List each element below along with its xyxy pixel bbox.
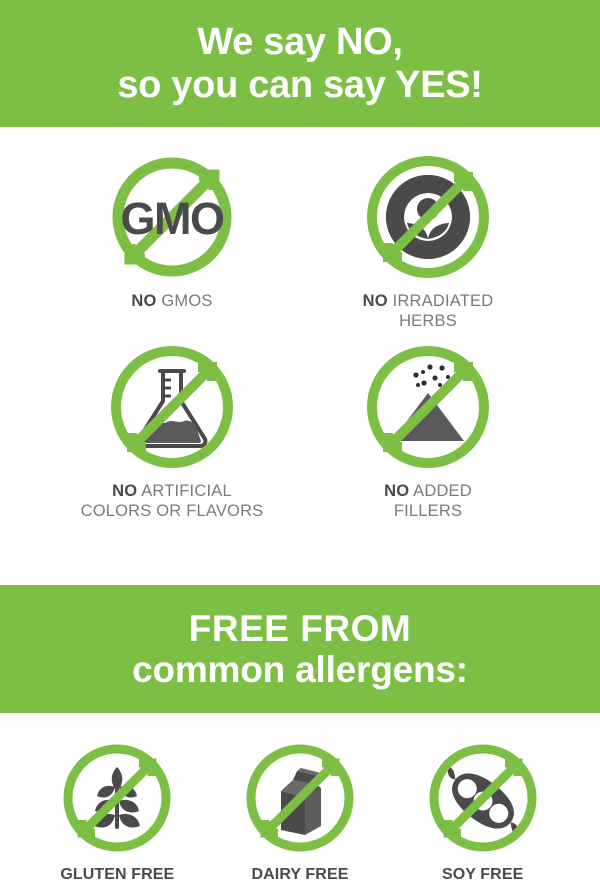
- no-text-line-1: ADDED: [413, 482, 472, 500]
- no-text-line-1: IRRADIATED: [393, 292, 494, 310]
- header-line-2: so you can say YES!: [117, 64, 482, 107]
- allergen-banner-line-1: FREE FROM: [189, 608, 411, 649]
- no-added-fillers-icon: [360, 339, 496, 475]
- allergen-soy-free-label: SOY FREE: [442, 866, 523, 884]
- no-emphasis: NO: [131, 292, 156, 310]
- allergen-gluten-free: GLUTEN FREE: [26, 739, 209, 884]
- gmo-inner-text: GMO: [121, 193, 224, 244]
- no-claim-artificial-colors-label: NO ARTIFICIAL COLORS OR FLAVORS: [81, 481, 264, 521]
- no-claim-gmos-label: NO GMOS: [131, 291, 212, 311]
- header-line-1: We say NO,: [197, 21, 402, 64]
- no-text-line-2: FILLERS: [394, 502, 462, 520]
- allergen-dairy-free-label: DAIRY FREE: [251, 866, 348, 884]
- no-emphasis: NO: [363, 292, 388, 310]
- no-claim-gmos: GMO NO GMOS: [44, 149, 300, 339]
- no-emphasis: NO: [112, 482, 137, 500]
- no-text-line-2: HERBS: [399, 312, 457, 330]
- gluten-free-wheat-icon: [58, 739, 176, 857]
- allergen-dairy-free: DAIRY FREE: [209, 739, 392, 884]
- allergen-banner-line-2: common allergens:: [132, 649, 468, 690]
- allergen-gluten-free-label: GLUTEN FREE: [60, 866, 174, 884]
- dairy-free-milk-carton-icon: [241, 739, 359, 857]
- no-artificial-colors-flask-icon: [104, 339, 240, 475]
- no-text-line-2: COLORS OR FLAVORS: [81, 502, 264, 520]
- no-gmo-icon: GMO: [104, 149, 240, 285]
- no-irradiated-herbs-icon: [360, 149, 496, 285]
- soy-free-soybean-icon: [424, 739, 542, 857]
- allergen-soy-free: SOY FREE: [391, 739, 574, 884]
- no-claim-irradiated-herbs: NO IRRADIATED HERBS: [300, 149, 556, 339]
- no-claim-added-fillers: NO ADDED FILLERS: [300, 339, 556, 529]
- no-claims-grid: GMO NO GMOS: [0, 127, 600, 529]
- header-banner: We say NO, so you can say YES!: [0, 0, 600, 127]
- allergen-free-row: GLUTEN FREE DAIRY FREE: [0, 713, 600, 884]
- infographic-page: We say NO, so you can say YES! GMO NO GM…: [0, 0, 600, 882]
- no-emphasis: NO: [384, 482, 409, 500]
- no-claim-added-fillers-label: NO ADDED FILLERS: [384, 481, 472, 521]
- no-claim-artificial-colors: NO ARTIFICIAL COLORS OR FLAVORS: [44, 339, 300, 529]
- no-claim-irradiated-herbs-label: NO IRRADIATED HERBS: [363, 291, 494, 331]
- allergen-banner: FREE FROM common allergens:: [0, 585, 600, 713]
- no-text-line-1: ARTIFICIAL: [141, 482, 232, 500]
- no-text-line-1: GMOS: [161, 292, 212, 310]
